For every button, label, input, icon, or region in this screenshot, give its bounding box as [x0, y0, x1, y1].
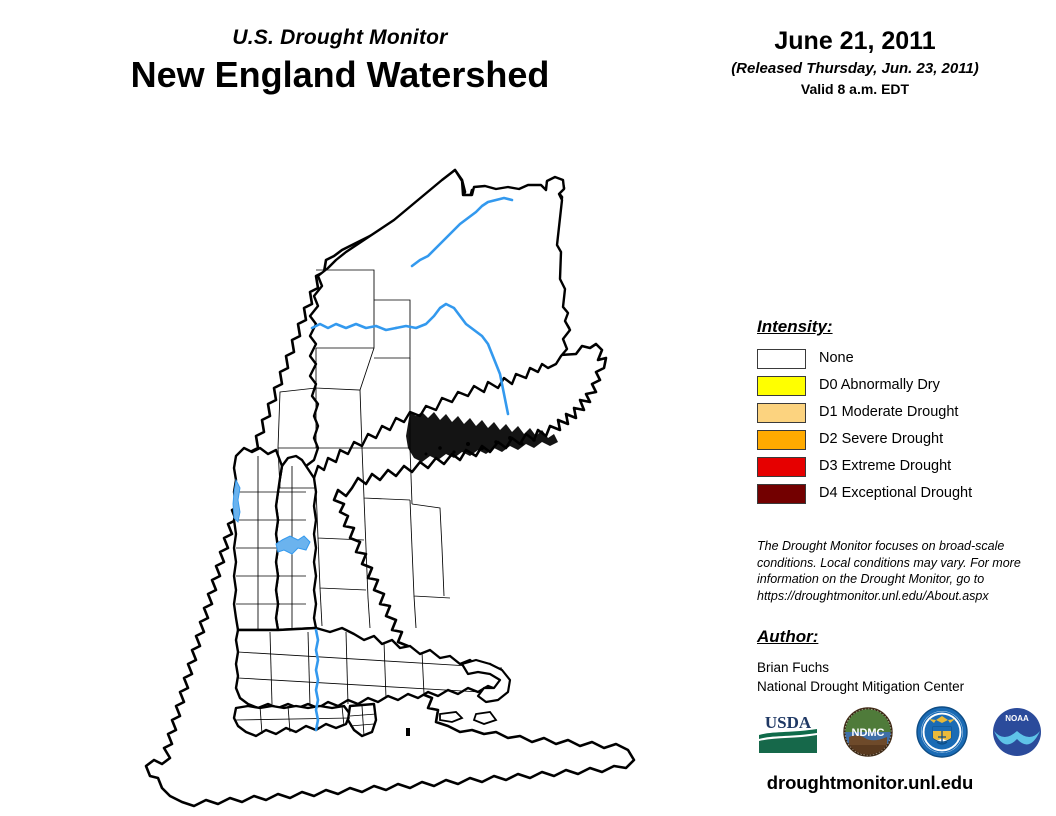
legend-swatch-none — [757, 349, 806, 369]
map-date: June 21, 2011 — [690, 28, 1020, 56]
drought-map[interactable] — [110, 148, 650, 808]
author-heading: Author: — [757, 628, 1042, 647]
disclaimer-text: The Drought Monitor focuses on broad-sca… — [757, 538, 1023, 605]
svg-text:NOAA: NOAA — [1005, 714, 1029, 723]
usdc-seal-logo[interactable] — [916, 706, 968, 758]
legend-swatch-d3 — [757, 457, 806, 477]
legend: Intensity: None D0 Abnormally Dry D1 Mod… — [757, 318, 1042, 508]
legend-item-d0[interactable]: D0 Abnormally Dry — [757, 373, 1042, 400]
legend-swatch-d2 — [757, 430, 806, 450]
map-svg — [110, 148, 650, 808]
legend-label-d4: D4 Exceptional Drought — [819, 486, 972, 502]
usda-logo[interactable]: USDA — [757, 709, 819, 755]
page-title: New England Watershed — [60, 54, 620, 95]
legend-swatch-d4 — [757, 484, 806, 504]
author-panel: Author: Brian Fuchs National Drought Mit… — [757, 628, 1042, 696]
legend-item-d2[interactable]: D2 Severe Drought — [757, 427, 1042, 454]
legend-label-d2: D2 Severe Drought — [819, 432, 943, 448]
ndmc-logo[interactable]: NDMC — [843, 707, 893, 757]
valid-time: Valid 8 a.m. EDT — [690, 82, 1020, 97]
author-name: Brian Fuchs — [757, 658, 1042, 677]
legend-label-none: None — [819, 351, 854, 367]
legend-label-d1: D1 Moderate Drought — [819, 405, 958, 421]
title-block: U.S. Drought Monitor New England Watersh… — [60, 26, 620, 95]
svg-text:USDA: USDA — [765, 713, 812, 732]
svg-text:NDMC: NDMC — [851, 727, 884, 739]
noaa-logo[interactable]: NOAA — [992, 707, 1042, 757]
legend-item-d4[interactable]: D4 Exceptional Drought — [757, 481, 1042, 508]
release-date: (Released Thursday, Jun. 23, 2011) — [690, 61, 1020, 78]
legend-swatch-d0 — [757, 376, 806, 396]
date-block: June 21, 2011 (Released Thursday, Jun. 2… — [690, 28, 1020, 97]
author-affiliation: National Drought Mitigation Center — [757, 677, 1042, 696]
legend-item-d1[interactable]: D1 Moderate Drought — [757, 400, 1042, 427]
legend-heading: Intensity: — [757, 318, 1042, 337]
legend-label-d3: D3 Extreme Drought — [819, 459, 951, 475]
drought-monitor-supertitle: U.S. Drought Monitor — [60, 26, 620, 49]
legend-swatch-d1 — [757, 403, 806, 423]
legend-item-d3[interactable]: D3 Extreme Drought — [757, 454, 1042, 481]
legend-item-none[interactable]: None — [757, 346, 1042, 373]
legend-label-d0: D0 Abnormally Dry — [819, 378, 940, 394]
logo-row: USDA NDMC NOAA — [757, 703, 1042, 761]
footer-url[interactable]: droughtmonitor.unl.edu — [700, 772, 1040, 794]
